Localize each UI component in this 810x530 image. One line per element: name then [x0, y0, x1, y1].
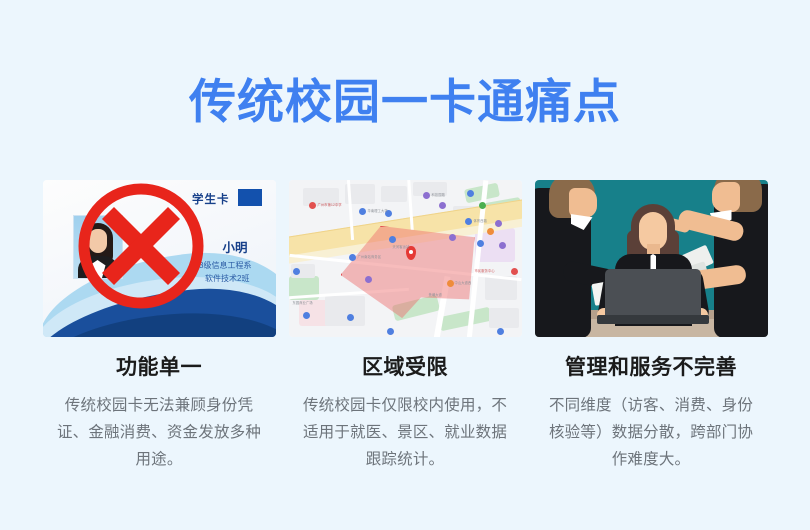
map-poi-marker — [487, 228, 494, 235]
laptop-screen — [605, 269, 701, 317]
map-poi-marker — [497, 328, 504, 335]
laptop-base — [597, 315, 709, 324]
map-poi-marker — [309, 202, 316, 209]
map-label: 广州市第12中学 — [318, 202, 342, 207]
map-building-block — [381, 186, 407, 202]
card-description: 不同维度（访客、消费、身份核验等）数据分散，跨部门协作难度大。 — [542, 393, 760, 473]
student-id-card-image: 学生卡 小明 23级信息工程系 软件技术2班 — [43, 180, 276, 337]
map-label: 体育西路 — [474, 218, 488, 223]
map-poi-marker — [439, 202, 446, 209]
map-poi-marker — [293, 268, 300, 275]
right-colleague-face — [712, 182, 740, 212]
card-heading: 功能单一 — [116, 355, 202, 380]
school-logo-icon — [238, 189, 262, 206]
left-colleague-face — [569, 188, 597, 218]
map-poi-marker — [389, 236, 396, 243]
map-building-block — [489, 308, 519, 328]
id-card-student-name: 小明 — [222, 237, 247, 256]
map-poi-marker — [477, 240, 484, 247]
map-poi-marker — [347, 314, 354, 321]
office-overload-illustration — [535, 180, 768, 337]
map-poi-marker — [511, 268, 518, 275]
map-poi-marker — [495, 220, 502, 227]
map-label: 东圃商业广场 — [293, 300, 313, 305]
map-label: 市民服务中心 — [475, 268, 495, 273]
prohibited-red-cross-icon — [76, 181, 206, 311]
map-poi-marker — [447, 280, 454, 287]
card-heading: 管理和服务不完善 — [565, 355, 737, 380]
id-card-class: 软件技术2班 — [205, 273, 249, 284]
map-poi-marker — [499, 242, 506, 249]
pain-point-card-management: 管理和服务不完善 不同维度（访客、消费、身份核验等）数据分散，跨部门协作难度大。 — [535, 180, 768, 473]
pain-point-card-area-limit: 广州市第12中学 华南理工大学 科技园路 体育西路 广州南站商务区 天河客运站 … — [289, 180, 522, 473]
map-label: 广州南站商务区 — [358, 254, 382, 259]
map-poi-marker — [449, 234, 456, 241]
card-heading: 区域受限 — [362, 355, 448, 380]
card-description: 传统校园卡无法兼顾身份凭证、金融消费、资金发放多种用途。 — [50, 393, 268, 473]
map-label: 科技园路 — [432, 192, 446, 197]
map-poi-marker — [467, 190, 474, 197]
page-title: 传统校园一卡通痛点 — [0, 78, 810, 125]
card-description: 传统校园卡仅限校内使用，不适用于就医、景区、就业数据跟踪统计。 — [296, 393, 514, 473]
map-poi-marker — [359, 208, 366, 215]
map-poi-marker — [349, 254, 356, 261]
pain-point-card-list: 学生卡 小明 23级信息工程系 软件技术2班 功能单一 传统校园卡无法兼顾身份凭… — [0, 180, 810, 473]
map-building-block — [325, 296, 365, 326]
map-poi-marker — [303, 312, 310, 319]
map-poi-marker — [423, 192, 430, 199]
map-label: 天河客运站 — [393, 244, 410, 249]
map-poi-marker — [387, 328, 394, 335]
map-poi-marker — [465, 218, 472, 225]
map-label: 华南理工大学 — [368, 208, 388, 213]
map-poi-marker — [479, 202, 486, 209]
campus-map-image: 广州市第12中学 华南理工大学 科技园路 体育西路 广州南站商务区 天河客运站 … — [289, 180, 522, 337]
map-poi-marker — [365, 276, 372, 283]
map-label: 中山大道西 — [455, 280, 472, 285]
pain-point-card-functionality: 学生卡 小明 23级信息工程系 软件技术2班 功能单一 传统校园卡无法兼顾身份凭… — [43, 180, 276, 473]
map-label: 黄埔大道 — [429, 292, 443, 297]
